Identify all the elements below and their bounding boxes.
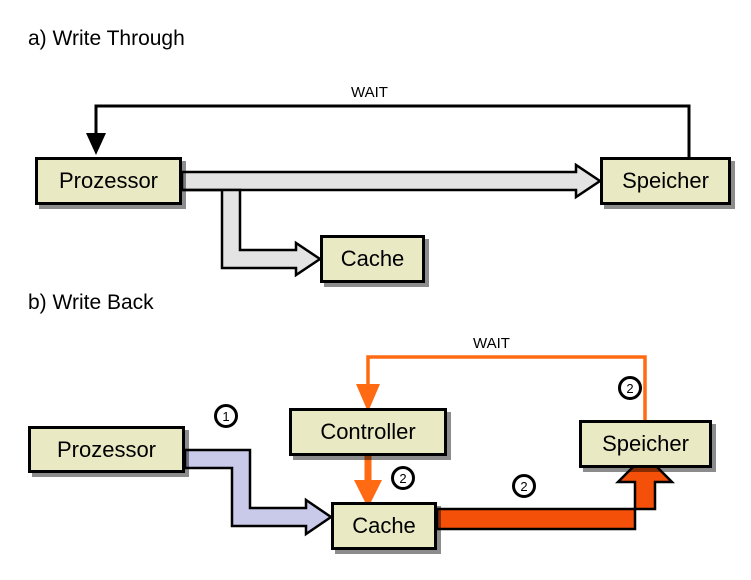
step-badge-2-controller: 2 — [391, 466, 415, 490]
wt-prozessor-to-speicher-arrow — [182, 165, 600, 197]
section-title-write-through: a) Write Through — [28, 27, 185, 51]
node-wb-controller[interactable]: Controller — [289, 408, 447, 456]
wt-prozessor-to-cache-arrow — [182, 190, 320, 275]
wb-controller-to-cache-arrow — [354, 456, 382, 508]
step-badge-2-memory: 2 — [618, 376, 642, 400]
wt-wait-arrow — [86, 106, 689, 157]
wb-prozessor-to-cache-arrow — [185, 450, 331, 534]
node-wb-speicher[interactable]: Speicher — [579, 420, 712, 468]
wt-wait-label: WAIT — [351, 84, 388, 101]
step-badge-1: 1 — [214, 404, 238, 428]
node-wt-prozessor[interactable]: Prozessor — [35, 157, 182, 205]
wb-wait-label: WAIT — [473, 335, 510, 352]
step-badge-2-bus: 2 — [512, 474, 536, 498]
node-wt-cache[interactable]: Cache — [320, 235, 425, 283]
node-wb-prozessor[interactable]: Prozessor — [28, 426, 185, 473]
node-wb-cache[interactable]: Cache — [331, 502, 437, 550]
node-wt-speicher[interactable]: Speicher — [600, 157, 731, 205]
section-title-write-back: b) Write Back — [28, 291, 154, 315]
